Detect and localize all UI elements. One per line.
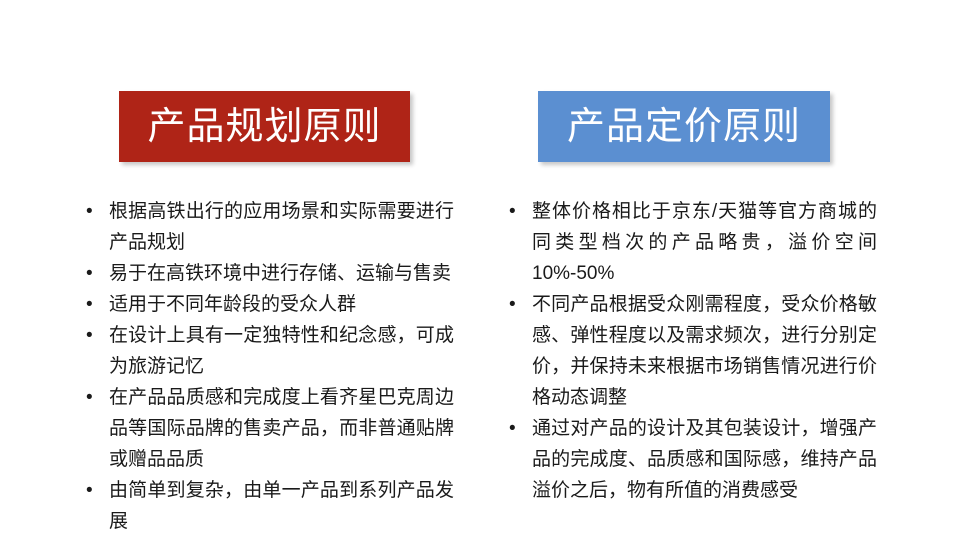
banner-product-pricing: 产品定价原则 <box>538 91 830 162</box>
list-item: • 由简单到复杂，由单一产品到系列产品发展 <box>82 475 454 537</box>
banner-product-planning: 产品规划原则 <box>119 91 410 162</box>
banner-title-product-pricing: 产品定价原则 <box>567 108 801 146</box>
list-item: • 不同产品根据受众刚需程度，受众价格敏感、弹性程度以及需求频次，进行分别定价，… <box>505 289 877 413</box>
list-item-text: 整体价格相比于京东/天猫等官方商城的同类型档次的产品略贵，溢价空间10%-50% <box>532 196 877 289</box>
bullet-marker-icon: • <box>86 196 93 227</box>
list-item: • 根据高铁出行的应用场景和实际需要进行产品规划 <box>82 196 454 258</box>
list-item: • 通过对产品的设计及其包装设计，增强产品的完成度、品质感和国际感，维持产品溢价… <box>505 413 877 506</box>
list-item: • 易于在高铁环境中进行存储、运输与售卖 <box>82 258 454 289</box>
slide-canvas: 产品规划原则 • 根据高铁出行的应用场景和实际需要进行产品规划 • 易于在高铁环… <box>0 0 960 540</box>
list-item: • 整体价格相比于京东/天猫等官方商城的同类型档次的产品略贵，溢价空间10%-5… <box>505 196 877 289</box>
list-item-text: 根据高铁出行的应用场景和实际需要进行产品规划 <box>109 196 454 258</box>
bullet-list-product-pricing: • 整体价格相比于京东/天猫等官方商城的同类型档次的产品略贵，溢价空间10%-5… <box>505 196 877 506</box>
bullet-list-product-planning: • 根据高铁出行的应用场景和实际需要进行产品规划 • 易于在高铁环境中进行存储、… <box>82 196 454 537</box>
bullet-marker-icon: • <box>86 289 93 320</box>
list-item: • 在产品品质感和完成度上看齐星巴克周边品等国际品牌的售卖产品，而非普通贴牌或赠… <box>82 382 454 475</box>
bullet-marker-icon: • <box>86 258 93 289</box>
list-item-text: 在产品品质感和完成度上看齐星巴克周边品等国际品牌的售卖产品，而非普通贴牌或赠品品… <box>109 382 454 475</box>
list-item-text: 由简单到复杂，由单一产品到系列产品发展 <box>109 475 454 537</box>
bullet-marker-icon: • <box>86 475 93 506</box>
bullet-marker-icon: • <box>86 320 93 351</box>
list-item: • 在设计上具有一定独特性和纪念感，可成为旅游记忆 <box>82 320 454 382</box>
bullet-marker-icon: • <box>509 196 516 227</box>
bullet-marker-icon: • <box>509 289 516 320</box>
banner-title-product-planning: 产品规划原则 <box>147 108 381 146</box>
list-item: • 适用于不同年龄段的受众人群 <box>82 289 454 320</box>
list-item-text: 适用于不同年龄段的受众人群 <box>109 289 454 320</box>
list-item-text: 通过对产品的设计及其包装设计，增强产品的完成度、品质感和国际感，维持产品溢价之后… <box>532 413 877 506</box>
column-product-pricing: 产品定价原则 • 整体价格相比于京东/天猫等官方商城的同类型档次的产品略贵，溢价… <box>480 0 900 540</box>
list-item-text: 在设计上具有一定独特性和纪念感，可成为旅游记忆 <box>109 320 454 382</box>
list-item-text: 不同产品根据受众刚需程度，受众价格敏感、弹性程度以及需求频次，进行分别定价，并保… <box>532 289 877 413</box>
list-item-text: 易于在高铁环境中进行存储、运输与售卖 <box>109 258 454 289</box>
bullet-marker-icon: • <box>509 413 516 444</box>
bullet-marker-icon: • <box>86 382 93 413</box>
column-product-planning: 产品规划原则 • 根据高铁出行的应用场景和实际需要进行产品规划 • 易于在高铁环… <box>60 0 480 540</box>
